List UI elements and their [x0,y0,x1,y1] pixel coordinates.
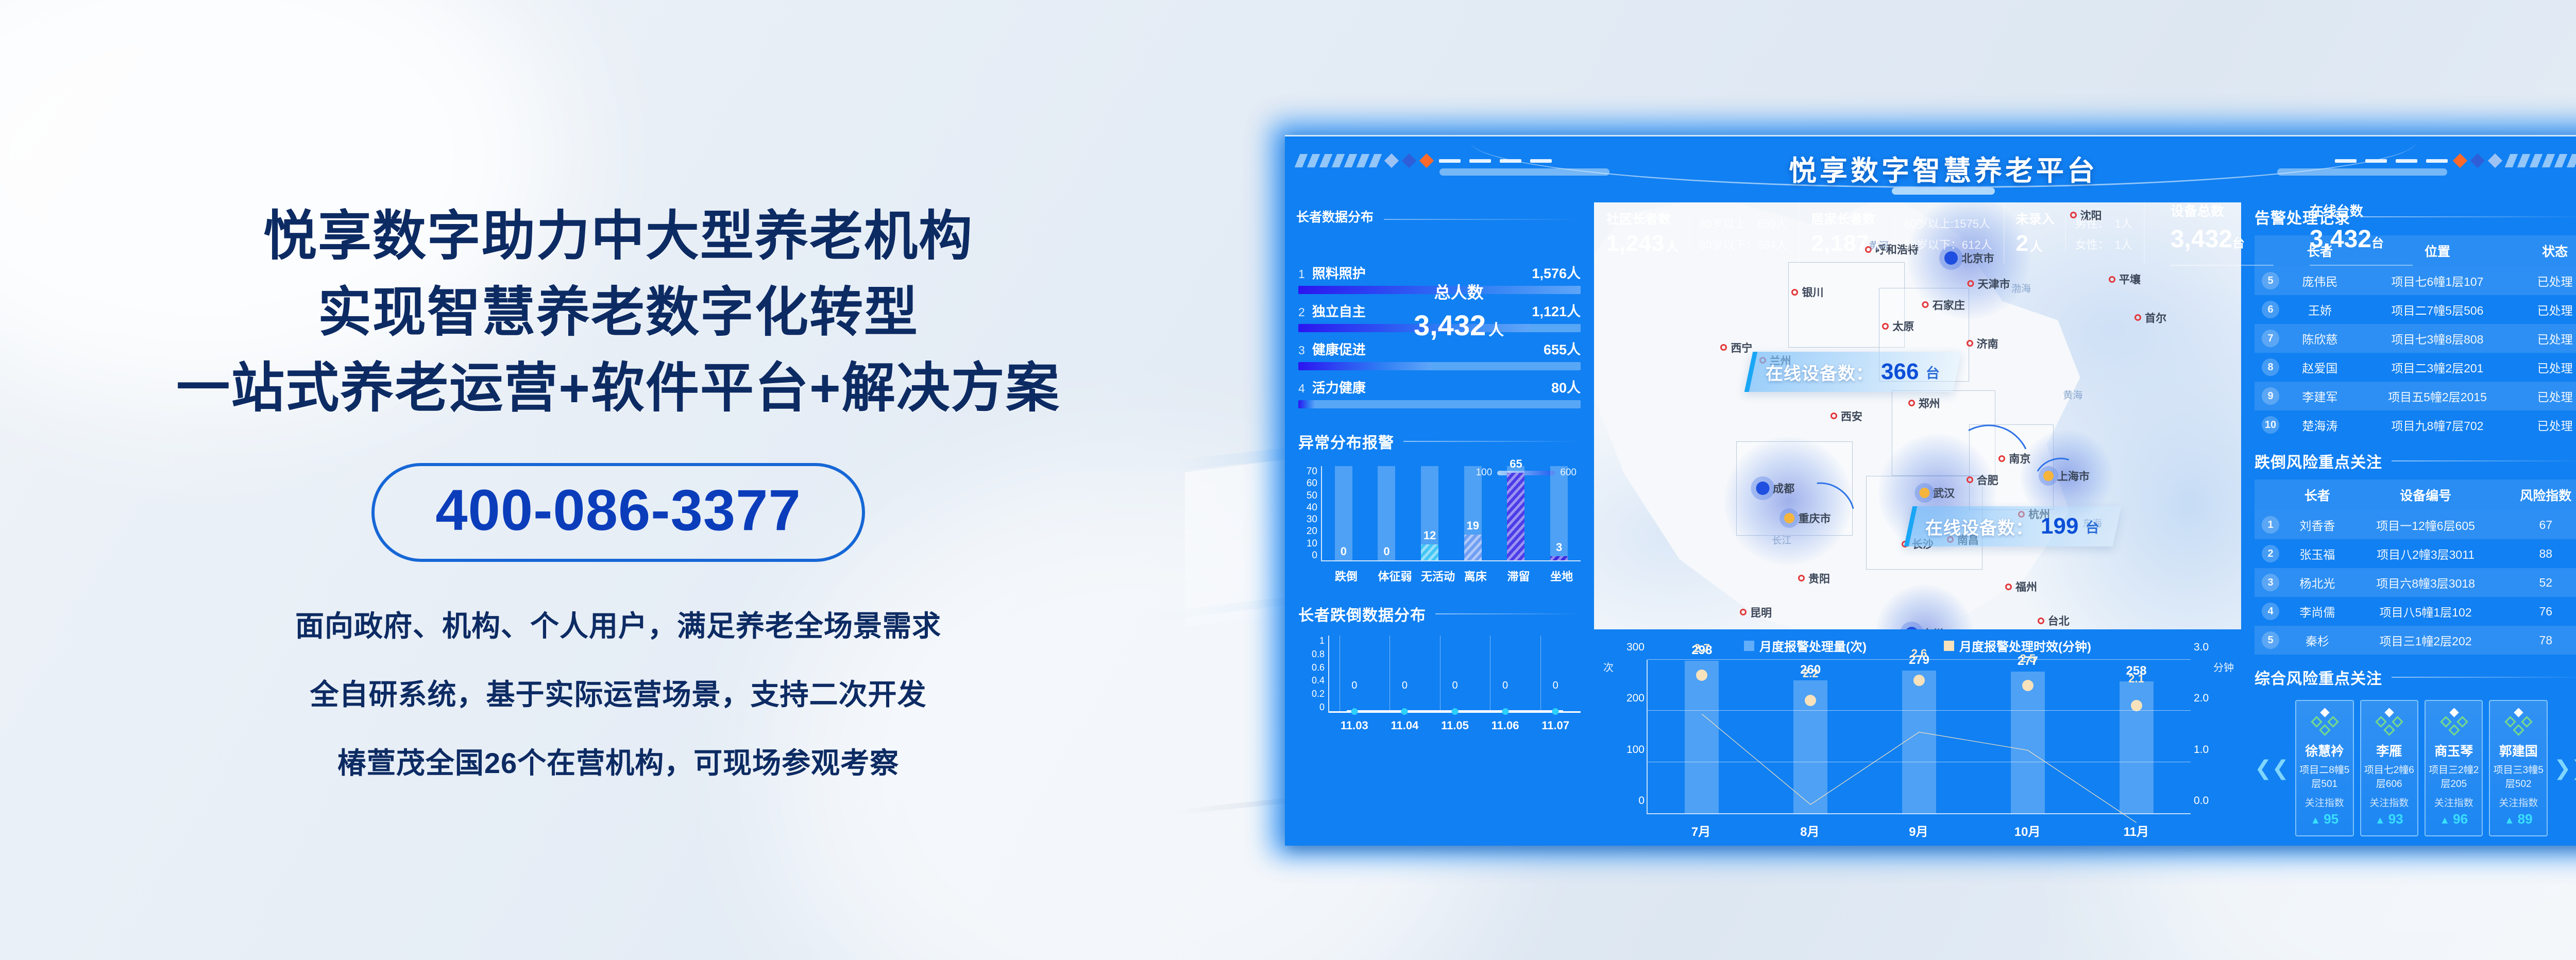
table-cell: 庞伟民 [2286,266,2353,295]
device-total-rule [2171,265,2274,266]
map-city-marker[interactable]: 太原 [1882,318,1914,334]
legend-swatch-bar [1744,641,1754,651]
index-badge: 8 [2262,358,2279,376]
bar-fill: 19 [1464,535,1482,560]
dashboard-body: 总人数 3,432人 1照料照护1,576人2独立自主1,121人3健康促进65… [1285,202,2576,846]
index-badge: 5 [2262,631,2279,649]
table-cell: 李尚儒 [2286,597,2348,626]
map-city-marker[interactable]: 石家庄 [1922,297,1965,313]
table-cell: 项目七6幢1层107 [2353,266,2521,295]
bar-fill: 65 [1507,473,1524,560]
anomaly-x-labels: 跌倒体征弱无活动离床滞留坐地 [1322,568,1581,584]
y-tick: 50 [1307,490,1317,502]
data-point[interactable] [1452,708,1459,715]
grid-line [1648,659,2191,660]
total-people-unit: 人 [1488,322,1504,339]
total-people-block: 总人数 3,432人 [1414,280,1504,342]
map-marker-icon [1882,323,1889,330]
y2-tick: 0.0 [2194,795,2217,807]
map-city-label: 西安 [1841,408,1862,424]
home-label: 居家长者数 [1811,212,1883,228]
index-badge: 6 [2262,301,2279,318]
table-row[interactable]: 2张玉福项目八2幢3层301188 [2255,539,2576,568]
total-people-label: 总人数 [1414,280,1504,303]
rank-value: 80人 [1551,376,1581,397]
grid-line [1440,636,1440,711]
x-tick: 11.03 [1329,719,1380,732]
monthly-line-point[interactable] [2131,700,2142,711]
map-city-label: 上海市 [2057,468,2090,484]
map-city-marker[interactable]: 西安 [1831,408,1862,424]
y-tick: 0.4 [1312,675,1325,686]
table-cell: 76 [2503,597,2576,626]
community-label: 社区长者数 [1606,212,1679,228]
map-city-marker[interactable]: 济南 [1967,336,1998,351]
phone-cta[interactable]: 400-086-3377 [371,463,865,562]
callout-1-value: 366 [1881,359,1919,385]
y1-tick: 200 [1622,692,1645,705]
table-row[interactable]: 10楚海涛项目九8幢7层702已处理 [2255,410,2576,439]
kpi-unrecorded: 未录入 2人 男性： 1人 女性： 1人 [2004,202,2144,264]
table-cell: 赵爱国 [2286,353,2353,382]
carousel-prev-icon[interactable]: ❮❮ [2255,757,2289,780]
fall-y-axis: 10.80.60.40.20 [1298,636,1329,713]
risk-card-score: ▲96 [2429,811,2479,827]
bar-column[interactable]: 65 [1507,466,1524,560]
risk-diamond-icon [2299,708,2349,737]
risk-card-index-label: 关注指数 [2364,795,2414,809]
risk-card-location: 项目三3幢5层502 [2493,762,2543,790]
data-point[interactable] [1502,708,1509,715]
callout-2-value: 199 [2041,513,2078,539]
fall-risk-title-rule [2392,460,2576,461]
map-city-marker[interactable]: 首尔 [2134,310,2166,325]
map-sea-label: 渤海 [2011,281,2031,295]
table-cell: 78 [2503,626,2576,655]
right-column: 告警处理记录 长者位置状态 5庞伟民项目七6幢1层107已处理6王娇项目二7幢5… [2241,202,2576,846]
x-tick: 11.07 [1530,719,1581,732]
anomaly-title-rule [1403,441,1581,442]
map-marker-icon [2038,618,2044,624]
rank-progress-bar [1298,362,1581,370]
benefit-item-3: 椿萱茂全国26个在营机构，可现场参观考察 [337,740,899,782]
comprehensive-risk-title-text: 综合风险重点关注 [2255,666,2382,689]
map-marker-icon [1831,413,1837,419]
fall-risk-table[interactable]: 长者设备编号风险指数 1刘香香项目一12幢6层605672张玉福项目八2幢3层3… [2255,479,2576,655]
risk-card-name: 李雁 [2364,741,2414,760]
rank-label: 照料照护 [1312,263,1366,282]
monthly-line-svg [1648,660,2191,846]
monthly-plot: 298260279277258 2.72.22.62.52.1 01002003… [1647,660,2191,814]
map-city-marker[interactable]: 贵阳 [1798,571,1830,586]
home-above-80: 80岁以上:1575人 [1904,215,1992,231]
anomaly-panel-title: 异常分布报警 [1298,430,1581,453]
table-row[interactable]: 5庞伟民项目七6幢1层107已处理 [2255,266,2576,295]
monthly-line-value: 2.6 [1911,647,1927,660]
bar-value-label: 65 [1510,457,1522,471]
index-badge: 5 [2262,272,2279,289]
header-wave-pill [1892,187,1995,195]
map-marker-icon [1798,575,1805,581]
data-point-label: 0 [1402,680,1408,692]
table-cell: 已处理 [2521,382,2576,410]
benefit-item-2: 全自研系统，基于实际运营场景，支持二次开发 [310,672,927,713]
table-row[interactable]: 9李建军项目五5幢2层2015已处理 [2255,382,2576,410]
anomaly-chart: 100 600 706050403020100 001219653 跌倒体征弱无… [1298,466,1581,584]
y-tick: 20 [1307,526,1317,537]
benefit-list: 面向政府、机构、个人用户，满足养老全场景需求 全自研系统，基于实际运营场景，支持… [295,603,941,782]
elder-distribution-label: 长者数据分布 [1296,210,1374,226]
table-cell: 秦杉 [2286,626,2348,655]
map-marker-icon [1998,455,2005,462]
x-tick: 11.05 [1430,719,1480,732]
table-cell: 已处理 [2521,266,2576,295]
y1-tick: 100 [1622,744,1645,756]
table-row[interactable]: 8赵爱国项目二3幢2层201已处理 [2255,353,2576,382]
anomaly-y-axis: 706050403020100 [1298,466,1322,561]
bar-fill: 12 [1421,544,1438,560]
comprehensive-risk-panel-title: 综合风险重点关注 [2255,666,2576,689]
table-cell: 项目六8幢3层3018 [2348,568,2503,597]
device-online-rule [2310,265,2413,266]
total-people-value: 3,432人 [1414,308,1504,342]
bar-column[interactable]: 0 [1335,466,1352,560]
y2-tick: 3.0 [2194,641,2217,654]
monthly-line-value: 2.5 [2020,652,2036,665]
rank-value: 1,121人 [1532,300,1581,320]
alarm-record-table[interactable]: 长者位置状态 5庞伟民项目七6幢1层107已处理6王娇项目二7幢5层506已处理… [2255,235,2576,439]
home-breakdown: 80岁以上:1575人 80岁以下：612人 [1893,215,1992,252]
table-row[interactable]: 6王娇项目二7幢5层506已处理 [2255,295,2576,324]
map-city-label: 石家庄 [1933,297,1965,313]
community-value: 1,243人 [1606,232,1679,255]
y-tick: 10 [1307,538,1317,550]
rank-row: 4活力健康80人 [1298,376,1581,408]
map-city-marker[interactable]: 成都 [1756,481,1794,496]
device-online-value: 3,432台 [2310,225,2413,253]
device-online-label: 在线台数 [2310,201,2413,220]
x-tick: 11.06 [1480,719,1531,732]
community-breakdown: 80岁以上：859人 80岁以下：384人 [1689,215,1787,252]
bar-column[interactable]: 3 [1550,466,1568,560]
y-tick: 30 [1307,514,1317,525]
community-above-80: 80岁以上：859人 [1699,215,1787,231]
map-city-label: 广州 [1922,626,1943,629]
unrecorded-unit: 人 [2030,240,2043,254]
rank-progress-bar [1298,400,1581,408]
map-city-marker[interactable]: 重庆市 [1784,510,1831,526]
map-city-marker[interactable]: 南京 [1998,451,2030,466]
map-city-marker[interactable]: 武汉 [1919,485,1955,501]
anomaly-plot: 706050403020100 001219653 [1298,466,1581,561]
row-index: 4 [2255,597,2286,626]
risk-card-score: ▲93 [2364,811,2414,827]
headline-line-1: 悦享数字助力中大型养老机构 [176,199,1060,275]
index-badge: 9 [2262,387,2279,405]
y-tick: 0 [1319,702,1325,713]
kpi-home: 居家长者数 2,187人 80岁以上:1575人 80岁以下：612人 [1799,202,2003,264]
grid-line [1648,762,2191,762]
callout-2-unit: 台 [2086,517,2099,537]
unrecorded-gender: 男性： 1人 女性： 1人 [2065,215,2132,252]
risk-focus-card[interactable]: 李雁项目七2幢6层606关注指数▲93 [2360,700,2418,836]
map-city-label: 郑州 [1919,396,1940,411]
home-value: 2,187人 [1811,232,1883,255]
left-column: 总人数 3,432人 1照料照护1,576人2独立自主1,121人3健康促进65… [1285,202,1594,846]
table-cell: 已处理 [2521,353,2576,382]
map-marker-icon [1756,482,1769,495]
monthly-line-value: 2.2 [1803,667,1819,680]
table-row[interactable]: 7陈欣慈项目七3幢8层808已处理 [2255,324,2576,353]
map-city-marker[interactable]: 西宁 [1720,340,1752,355]
table-row[interactable]: 1刘香香项目一12幢6层60567 [2255,510,2576,539]
table-cell: 项目二3幢2层201 [2353,353,2521,382]
device-total-value: 3,432台 [2171,225,2274,253]
y1-tick: 0 [1622,795,1645,807]
table-row[interactable]: 5秦杉项目三1幢2层20278 [2255,626,2576,655]
x-tick: 滞留 [1507,568,1524,584]
row-index: 3 [2255,568,2286,597]
monthly-y2-axis-name: 分钟 [2213,659,2234,674]
row-index: 8 [2255,353,2286,382]
map-city-marker[interactable]: 天津市 [1968,276,2010,292]
monthly-line-point[interactable] [1696,670,1707,681]
x-tick: 跌倒 [1335,568,1352,584]
map-marker-icon [1791,289,1798,296]
risk-focus-card[interactable]: 郭建国项目三3幢5层502关注指数▲89 [2489,700,2547,836]
risk-card-name: 商玉琴 [2429,741,2479,760]
y2-tick: 1.0 [2194,744,2217,756]
map-city-label: 首尔 [2145,310,2166,325]
marketing-panel: 悦享数字助力中大型养老机构 实现智慧养老数字化转型 一站式养老运营+软件平台+解… [0,0,1236,960]
fall-panel-title: 长者跌倒数据分布 [1298,603,1581,625]
map-city-marker[interactable]: 郑州 [1908,396,1940,411]
legend-item-volume[interactable]: 月度报警处理量(次) [1744,637,1867,655]
fall-risk-panel-title: 跌倒风险重点关注 [2255,450,2576,472]
row-index: 1 [2255,510,2286,539]
legend-item-duration[interactable]: 月度报警处理时效(分钟) [1944,637,2091,655]
map-city-label: 南京 [2009,451,2030,466]
risk-card-score: ▲95 [2299,811,2349,827]
map-marker-icon [2109,276,2115,283]
map-city-label: 福州 [2015,579,2037,594]
row-index: 7 [2255,324,2286,353]
trend-up-icon: ▲ [2375,815,2385,826]
rank-index: 1 [1298,267,1305,281]
bar-column[interactable]: 0 [1378,466,1395,560]
community-unit: 人 [1666,240,1679,254]
data-point[interactable] [1401,708,1408,715]
carousel-next-icon[interactable]: ❯❯ [2554,757,2576,780]
map-city-marker[interactable]: 合肥 [1967,472,1998,488]
rank-index: 4 [1298,382,1305,396]
rank-value: 655人 [1544,338,1581,358]
rank-index: 2 [1298,305,1305,319]
index-badge: 4 [2262,603,2279,620]
risk-focus-card[interactable]: 徐慧衿项目二8幢5层501关注指数▲95 [2295,700,2353,836]
map-city-marker[interactable]: 广州 [1905,626,1943,629]
index-badge: 1 [2262,516,2279,534]
x-tick: 无活动 [1421,568,1438,584]
benefit-item-1: 面向政府、机构、个人用户，满足养老全场景需求 [295,603,941,645]
trend-up-icon: ▲ [2504,815,2515,826]
fall-title-text: 长者跌倒数据分布 [1298,603,1426,625]
row-index: 9 [2255,382,2286,410]
dashboard-header: 悦享数字智慧养老平台 [1285,136,2576,203]
row-index: 6 [2255,295,2286,324]
map-marker-icon [2043,471,2054,481]
callout-1-unit: 台 [1926,362,1940,382]
index-badge: 10 [2262,416,2279,434]
map-city-label: 成都 [1773,481,1794,496]
row-index: 10 [2255,410,2286,439]
bar-fill: 3 [1550,556,1568,560]
table-cell: 项目一12幢6层605 [2348,510,2503,539]
y-tick: 0.6 [1312,662,1325,673]
map-callout-1: 在线设备数： 366 台 [1744,352,1962,392]
anomaly-title-text: 异常分布报警 [1298,430,1394,453]
fall-risk-title-text: 跌倒风险重点关注 [2255,450,2382,472]
map-city-label: 武汉 [1933,485,1955,501]
anomaly-bars: 001219653 [1322,466,1581,561]
x-tick: 坐地 [1550,568,1568,584]
device-total-card: 设备总数 3,432台 [2171,201,2274,266]
home-unit: 人 [1871,240,1884,254]
bar-value-label: 0 [1383,545,1389,558]
map-callout-2: 在线设备数： 199 台 [1904,506,2122,546]
phone-number: 400-086-3377 [435,482,801,539]
device-total-unit: 台 [2232,236,2245,250]
bar-column[interactable]: 19 [1464,466,1482,560]
table-cell: 52 [2503,568,2576,597]
map-river-label: 长江 [1772,533,1791,546]
table-cell: 已处理 [2521,324,2576,353]
map-marker-icon [1720,344,1727,351]
table-cell: 项目五5幢2层2015 [2353,382,2521,410]
table-cell: 项目八2幢3层3011 [2348,539,2503,568]
table-cell: 项目七3幢8层808 [2353,324,2521,353]
bar-column[interactable]: 12 [1421,466,1438,560]
data-point-label: 0 [1553,680,1558,692]
column-header [2255,479,2286,510]
table-cell: 项目二7幢5层506 [2353,295,2521,324]
table-cell: 王娇 [2286,295,2353,324]
data-point[interactable] [1351,708,1358,715]
unrecorded-label: 未录入 [2016,212,2055,228]
data-point[interactable] [1552,708,1559,715]
index-badge: 3 [2262,574,2279,591]
risk-card-name: 徐慧衿 [2299,741,2349,760]
device-total-label: 设备总数 [2171,201,2274,220]
data-point-label: 0 [1351,680,1357,692]
kpi-elder-distribution: 长者数据分布 [1285,202,1594,264]
monthly-line-point[interactable] [1805,695,1816,706]
monthly-line-point[interactable] [1913,675,1925,686]
row-index: 5 [2255,266,2286,295]
map-city-label: 贵阳 [1808,571,1830,586]
map-city-marker[interactable]: 平壤 [2109,271,2141,287]
fall-title-rule [1435,613,1581,614]
risk-card-score: ▲89 [2493,811,2543,827]
row-index: 2 [2255,539,2286,568]
community-below-80: 80岁以下：384人 [1699,236,1787,252]
table-cell: 张玉福 [2286,539,2348,568]
map-city-marker[interactable]: 银川 [1791,284,1823,300]
risk-card-index-label: 关注指数 [2299,795,2349,809]
map-city-label: 银川 [1802,284,1823,300]
grid-line [1648,710,2191,711]
map-marker-icon [1908,400,1915,406]
map-city-marker[interactable]: 福州 [2005,579,2037,594]
index-badge: 2 [2262,545,2279,562]
table-cell: 李建军 [2286,382,2353,410]
risk-card-location: 项目七2幢6层606 [2364,762,2414,790]
map-city-label: 太原 [1892,318,1914,334]
risk-card-index-label: 关注指数 [2493,795,2543,809]
map-marker-icon [1968,280,1974,287]
monthly-line-point[interactable] [2022,680,2033,691]
map-city-label: 西宁 [1731,340,1752,355]
table-cell: 项目九8幢7层702 [2353,410,2521,439]
comprehensive-risk-cards: ❮❮ 徐慧衿项目二8幢5层501关注指数▲95李雁项目七2幢6层606关注指数▲… [2255,700,2576,836]
fall-grid: 00000 [1329,636,1581,713]
map-city-label: 平壤 [2119,271,2141,287]
fall-panel: 长者跌倒数据分布 10.80.60.40.20 00000 11.0311.04… [1298,603,1581,732]
map-marker-icon [1919,488,1929,498]
bar-value-label: 0 [1341,545,1347,558]
table-cell: 项目三1幢2层202 [2348,626,2503,655]
risk-card-index-label: 关注指数 [2429,795,2479,809]
map-city-marker[interactable]: 台北 [2038,613,2070,628]
x-tick: 11.04 [1380,719,1430,732]
risk-card-location: 项目二8幢5层501 [2299,762,2349,790]
table-cell: 已处理 [2521,295,2576,324]
unrecorded-female: 女性： 1人 [2075,236,2132,252]
monthly-line-value: 2.7 [1694,642,1710,655]
trend-up-icon: ▲ [2310,815,2320,826]
x-tick: 离床 [1464,568,1482,584]
title-rule [1384,219,1583,220]
map-marker-icon [1740,609,1747,615]
anomaly-panel: 异常分布报警 100 600 706050403020100 001219653… [1298,430,1581,584]
map-city-label: 合肥 [1977,472,1998,488]
bar-value-label: 3 [1556,541,1562,554]
headline: 悦享数字助力中大型养老机构 实现智慧养老数字化转型 一站式养老运营+软件平台+解… [176,199,1060,427]
monthly-alarm-chart: 月度报警处理量(次) 月度报警处理时效(分钟) 次 分钟 29826027927… [1594,629,2241,846]
legend-swatch-line [1944,641,1954,651]
rank-row: 3健康促进655人 [1298,338,1581,370]
map-city-marker[interactable]: 昆明 [1740,605,1772,620]
risk-focus-card[interactable]: 商玉琴项目三2幢2层205关注指数▲96 [2425,700,2483,836]
table-row[interactable]: 4李尚儒项目八5幢1层10276 [2255,597,2576,626]
bar-value-label: 12 [1423,529,1436,542]
map-city-marker[interactable]: 上海市 [2043,468,2090,484]
table-cell: 杨北光 [2286,568,2348,597]
table-row[interactable]: 3杨北光项目六8幢3层301852 [2255,568,2576,597]
map-city-label: 天津市 [1978,276,2010,292]
home-below-80: 80岁以下：612人 [1904,236,1992,252]
fall-risk-header-row: 长者设备编号风险指数 [2255,479,2576,510]
center-column: 呼和浩特北京市天津市沈阳石家庄银川太原济南西宁兰州郑州西安合肥南京上海市杭州武汉… [1594,202,2241,846]
y-tick: 0.2 [1312,689,1325,699]
kpi-devices: 设备总数 3,432台 在线台数 3,432台 [2144,202,2576,264]
y-tick: 60 [1307,478,1317,489]
index-badge: 7 [2262,330,2279,347]
y-tick: 1 [1319,636,1325,646]
map-city-label: 台北 [2048,613,2070,628]
china-device-map[interactable]: 呼和浩特北京市天津市沈阳石家庄银川太原济南西宁兰州郑州西安合肥南京上海市杭州武汉… [1594,202,2241,629]
map-marker-icon [1784,513,1794,523]
